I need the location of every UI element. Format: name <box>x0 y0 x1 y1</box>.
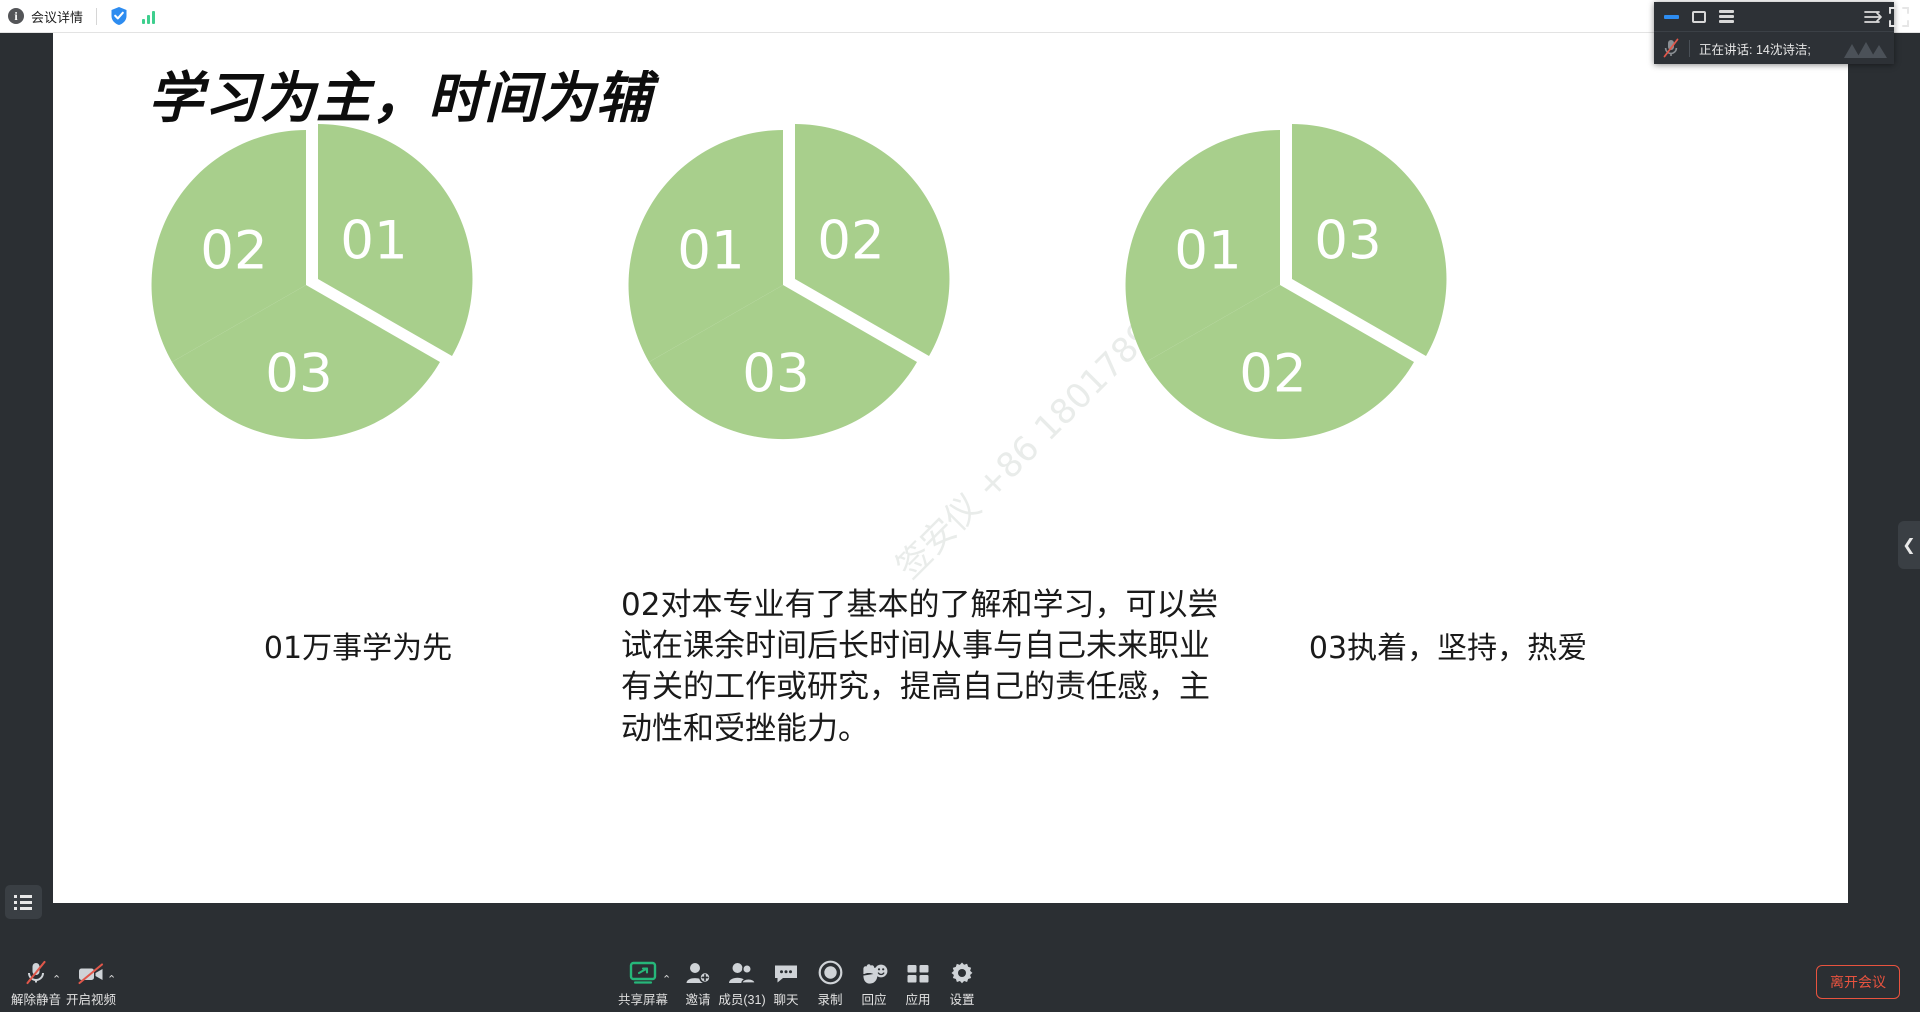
share-screen-label: 共享屏幕 <box>618 989 668 1008</box>
reactions-icon <box>861 959 888 985</box>
pie-slice-label: 03 <box>1314 211 1381 272</box>
caption-03: 03执着，坚持，热爱 <box>1248 629 1648 669</box>
share-screen-icon <box>629 959 657 985</box>
presentation-slide: 学习为主，时间为辅 签安仪 +86 1801789... 02 01 03 <box>53 33 1848 903</box>
caption-01: 01万事学为先 <box>193 629 523 669</box>
microphone-muted-icon <box>24 959 48 985</box>
panel-collapse-icon[interactable] <box>1864 9 1884 25</box>
speaking-status-row: 正在讲话: 14沈诗洁; <box>1654 31 1894 64</box>
chat-icon <box>773 959 799 985</box>
pie-slice-label: 03 <box>742 344 809 405</box>
shield-check-icon[interactable] <box>110 6 128 26</box>
pie-slice-label: 02 <box>200 221 267 282</box>
start-video-label: 开启视频 <box>66 989 116 1008</box>
pie-slice-label: 03 <box>265 344 332 405</box>
divider <box>1689 40 1690 57</box>
maximize-icon[interactable] <box>1692 11 1706 23</box>
microphone-muted-icon <box>1662 38 1680 58</box>
invite-label: 邀请 <box>685 989 710 1008</box>
pie-slice-label: 02 <box>1239 344 1306 405</box>
apps-icon <box>906 959 930 985</box>
divider <box>96 8 97 25</box>
record-label: 录制 <box>817 989 842 1008</box>
pie-slice-label: 01 <box>1174 221 1241 282</box>
participants-icon <box>728 959 756 985</box>
camera-off-icon <box>77 959 105 985</box>
info-icon: i <box>8 8 24 24</box>
pie-slice-label: 01 <box>677 221 744 282</box>
settings-gear-icon <box>950 959 974 985</box>
meeting-details-label: 会议详情 <box>31 7 83 26</box>
pie-chart-3: 01 03 02 <box>1105 105 1475 455</box>
list-view-button[interactable] <box>5 885 42 919</box>
meeting-details-button[interactable]: i 会议详情 <box>8 7 83 26</box>
record-icon <box>818 959 843 985</box>
unmute-label: 解除静音 <box>11 989 61 1008</box>
chat-label: 聊天 <box>773 989 798 1008</box>
settings-label: 设置 <box>949 989 974 1008</box>
video-options-caret[interactable]: ⌃ <box>107 973 116 986</box>
minimize-icon[interactable] <box>1664 15 1679 19</box>
caption-02: 02对本专业有了基本的了解和学习，可以尝试在课余时间后长时间从事与自己未来职业有… <box>621 585 1221 750</box>
pie-chart-1: 02 01 03 <box>131 105 501 455</box>
floating-panel-titlebar <box>1654 2 1894 31</box>
reactions-label: 回应 <box>861 989 886 1008</box>
speaking-label: 正在讲话: 14沈诗洁; <box>1699 39 1811 58</box>
panel-collapse-button[interactable]: ❮ <box>1898 521 1920 569</box>
chevron-left-icon: ❮ <box>1902 535 1915 555</box>
hamburger-menu-icon[interactable] <box>1719 8 1734 26</box>
leave-meeting-button[interactable]: 离开会议 <box>1816 965 1900 999</box>
top-bar: i 会议详情 <box>0 0 1920 33</box>
pie-slice-label: 02 <box>817 211 884 272</box>
meeting-toolbar: 解除静音 ⌃ 开启视频 ⌃ 共享屏幕 ⌃ <box>0 955 1920 1012</box>
signal-strength-icon[interactable] <box>142 8 155 24</box>
settings-button[interactable]: 设置 <box>929 959 995 1008</box>
floating-speaker-panel[interactable]: 正在讲话: 14沈诗洁; <box>1654 2 1894 64</box>
invite-user-icon <box>685 959 711 985</box>
pie-chart-2: 01 02 03 <box>608 105 978 455</box>
shared-screen-stage: 学习为主，时间为辅 签安仪 +86 1801789... 02 01 03 <box>0 33 1920 955</box>
fullscreen-button[interactable] <box>1888 6 1910 28</box>
audio-waveform-icon <box>1842 40 1888 63</box>
apps-label: 应用 <box>905 989 930 1008</box>
list-view-icon <box>14 892 33 913</box>
pie-slice-label: 01 <box>340 211 407 272</box>
